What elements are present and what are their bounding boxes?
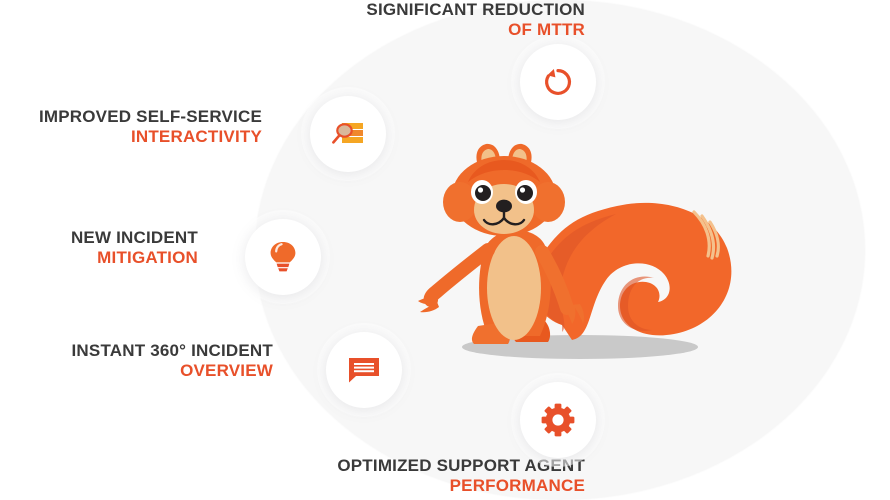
- benefit-label-interactivity-line1: IMPROVED SELF-SERVICE: [0, 107, 262, 127]
- benefit-label-mitigation-line2: MITIGATION: [0, 248, 198, 268]
- search-list-icon: [331, 119, 365, 149]
- benefit-label-performance-line1: OPTIMIZED SUPPORT AGENT: [200, 456, 585, 476]
- gear-icon: [541, 403, 575, 437]
- benefits-wheel-graphic: SIGNIFICANT REDUCTION OF MTTR IMPROVED S…: [0, 0, 890, 500]
- benefit-label-overview-line1: INSTANT 360° INCIDENT: [0, 341, 273, 361]
- benefit-icon-bubble-performance[interactable]: [520, 382, 596, 458]
- mascot-head: [443, 144, 565, 236]
- benefit-label-overview: INSTANT 360° INCIDENT OVERVIEW: [0, 341, 273, 381]
- benefit-label-interactivity-line2: INTERACTIVITY: [0, 127, 262, 147]
- benefit-label-mttr: SIGNIFICANT REDUCTION OF MTTR: [200, 0, 585, 40]
- refresh-icon: [541, 65, 575, 99]
- mascot-tail: [533, 203, 731, 340]
- benefit-label-mttr-line1: SIGNIFICANT REDUCTION: [200, 0, 585, 20]
- benefit-label-mttr-line2: OF MTTR: [200, 20, 585, 40]
- benefit-icon-bubble-interactivity[interactable]: [310, 96, 386, 172]
- benefit-icon-bubble-mttr[interactable]: [520, 44, 596, 120]
- benefit-label-interactivity: IMPROVED SELF-SERVICE INTERACTIVITY: [0, 107, 262, 147]
- benefit-label-overview-line2: OVERVIEW: [0, 361, 273, 381]
- squirrel-mascot: [412, 140, 752, 375]
- benefit-label-mitigation-line1: NEW INCIDENT: [0, 228, 198, 248]
- chat-bubble-icon: [346, 355, 382, 385]
- lightbulb-icon: [268, 240, 298, 274]
- benefit-label-performance: OPTIMIZED SUPPORT AGENT PERFORMANCE: [200, 456, 585, 496]
- benefit-label-mitigation: NEW INCIDENT MITIGATION: [0, 228, 198, 268]
- benefit-icon-bubble-overview[interactable]: [326, 332, 402, 408]
- benefit-label-performance-line2: PERFORMANCE: [200, 476, 585, 496]
- benefit-icon-bubble-mitigation[interactable]: [245, 219, 321, 295]
